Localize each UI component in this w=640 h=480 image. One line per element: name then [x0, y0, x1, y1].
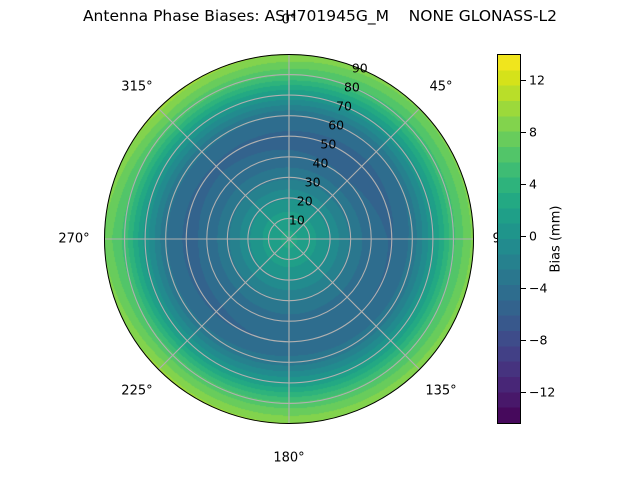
radial-tick-label-70: 70: [336, 99, 352, 114]
radial-tick-label-20: 20: [297, 194, 313, 209]
figure-canvas: Antenna Phase Biases: ASH701945G_M NONE …: [0, 0, 640, 480]
colorbar-tickmark-5: [521, 340, 526, 341]
theta-tick-label-225: 225°: [121, 384, 152, 399]
theta-tick-label-180: 180°: [273, 451, 304, 466]
chart-title: Antenna Phase Biases: ASH701945G_M NONE …: [0, 7, 640, 25]
radial-tick-label-90: 90: [352, 61, 368, 76]
theta-tick-label-45: 45°: [429, 79, 452, 94]
colorbar-tickmark-2: [521, 184, 526, 185]
colorbar-tick-label-0: 12: [529, 72, 545, 87]
radial-tick-label-60: 60: [328, 118, 344, 133]
theta-tick-label-0: 0°: [282, 13, 297, 28]
colorbar-tick-label-1: 8: [529, 124, 537, 139]
polar-axes[interactable]: [104, 54, 474, 424]
theta-tick-label-315: 315°: [121, 79, 152, 94]
polar-heatmap-canvas: [104, 54, 474, 424]
colorbar-gradient: [497, 54, 521, 424]
colorbar-tick-label-3: 0: [529, 228, 537, 243]
radial-tick-label-30: 30: [305, 175, 321, 190]
colorbar[interactable]: 12840−4−8−12: [497, 54, 521, 424]
colorbar-tickmark-4: [521, 288, 526, 289]
radial-tick-label-40: 40: [313, 156, 329, 171]
radial-tick-label-10: 10: [289, 213, 305, 228]
theta-tick-label-135: 135°: [425, 384, 456, 399]
colorbar-axis-label: Bias (mm): [549, 206, 564, 273]
colorbar-tick-label-6: −12: [529, 384, 555, 399]
colorbar-tick-label-4: −4: [529, 280, 547, 295]
colorbar-tickmark-6: [521, 392, 526, 393]
polar-heatmap-surface: [104, 54, 474, 424]
colorbar-tick-label-2: 4: [529, 176, 537, 191]
theta-tick-label-270: 270°: [58, 232, 89, 247]
radial-tick-label-50: 50: [320, 137, 336, 152]
colorbar-tickmark-0: [521, 80, 526, 81]
colorbar-tickmark-3: [521, 236, 526, 237]
colorbar-tick-label-5: −8: [529, 332, 547, 347]
radial-tick-label-80: 80: [344, 80, 360, 95]
colorbar-tickmark-1: [521, 132, 526, 133]
